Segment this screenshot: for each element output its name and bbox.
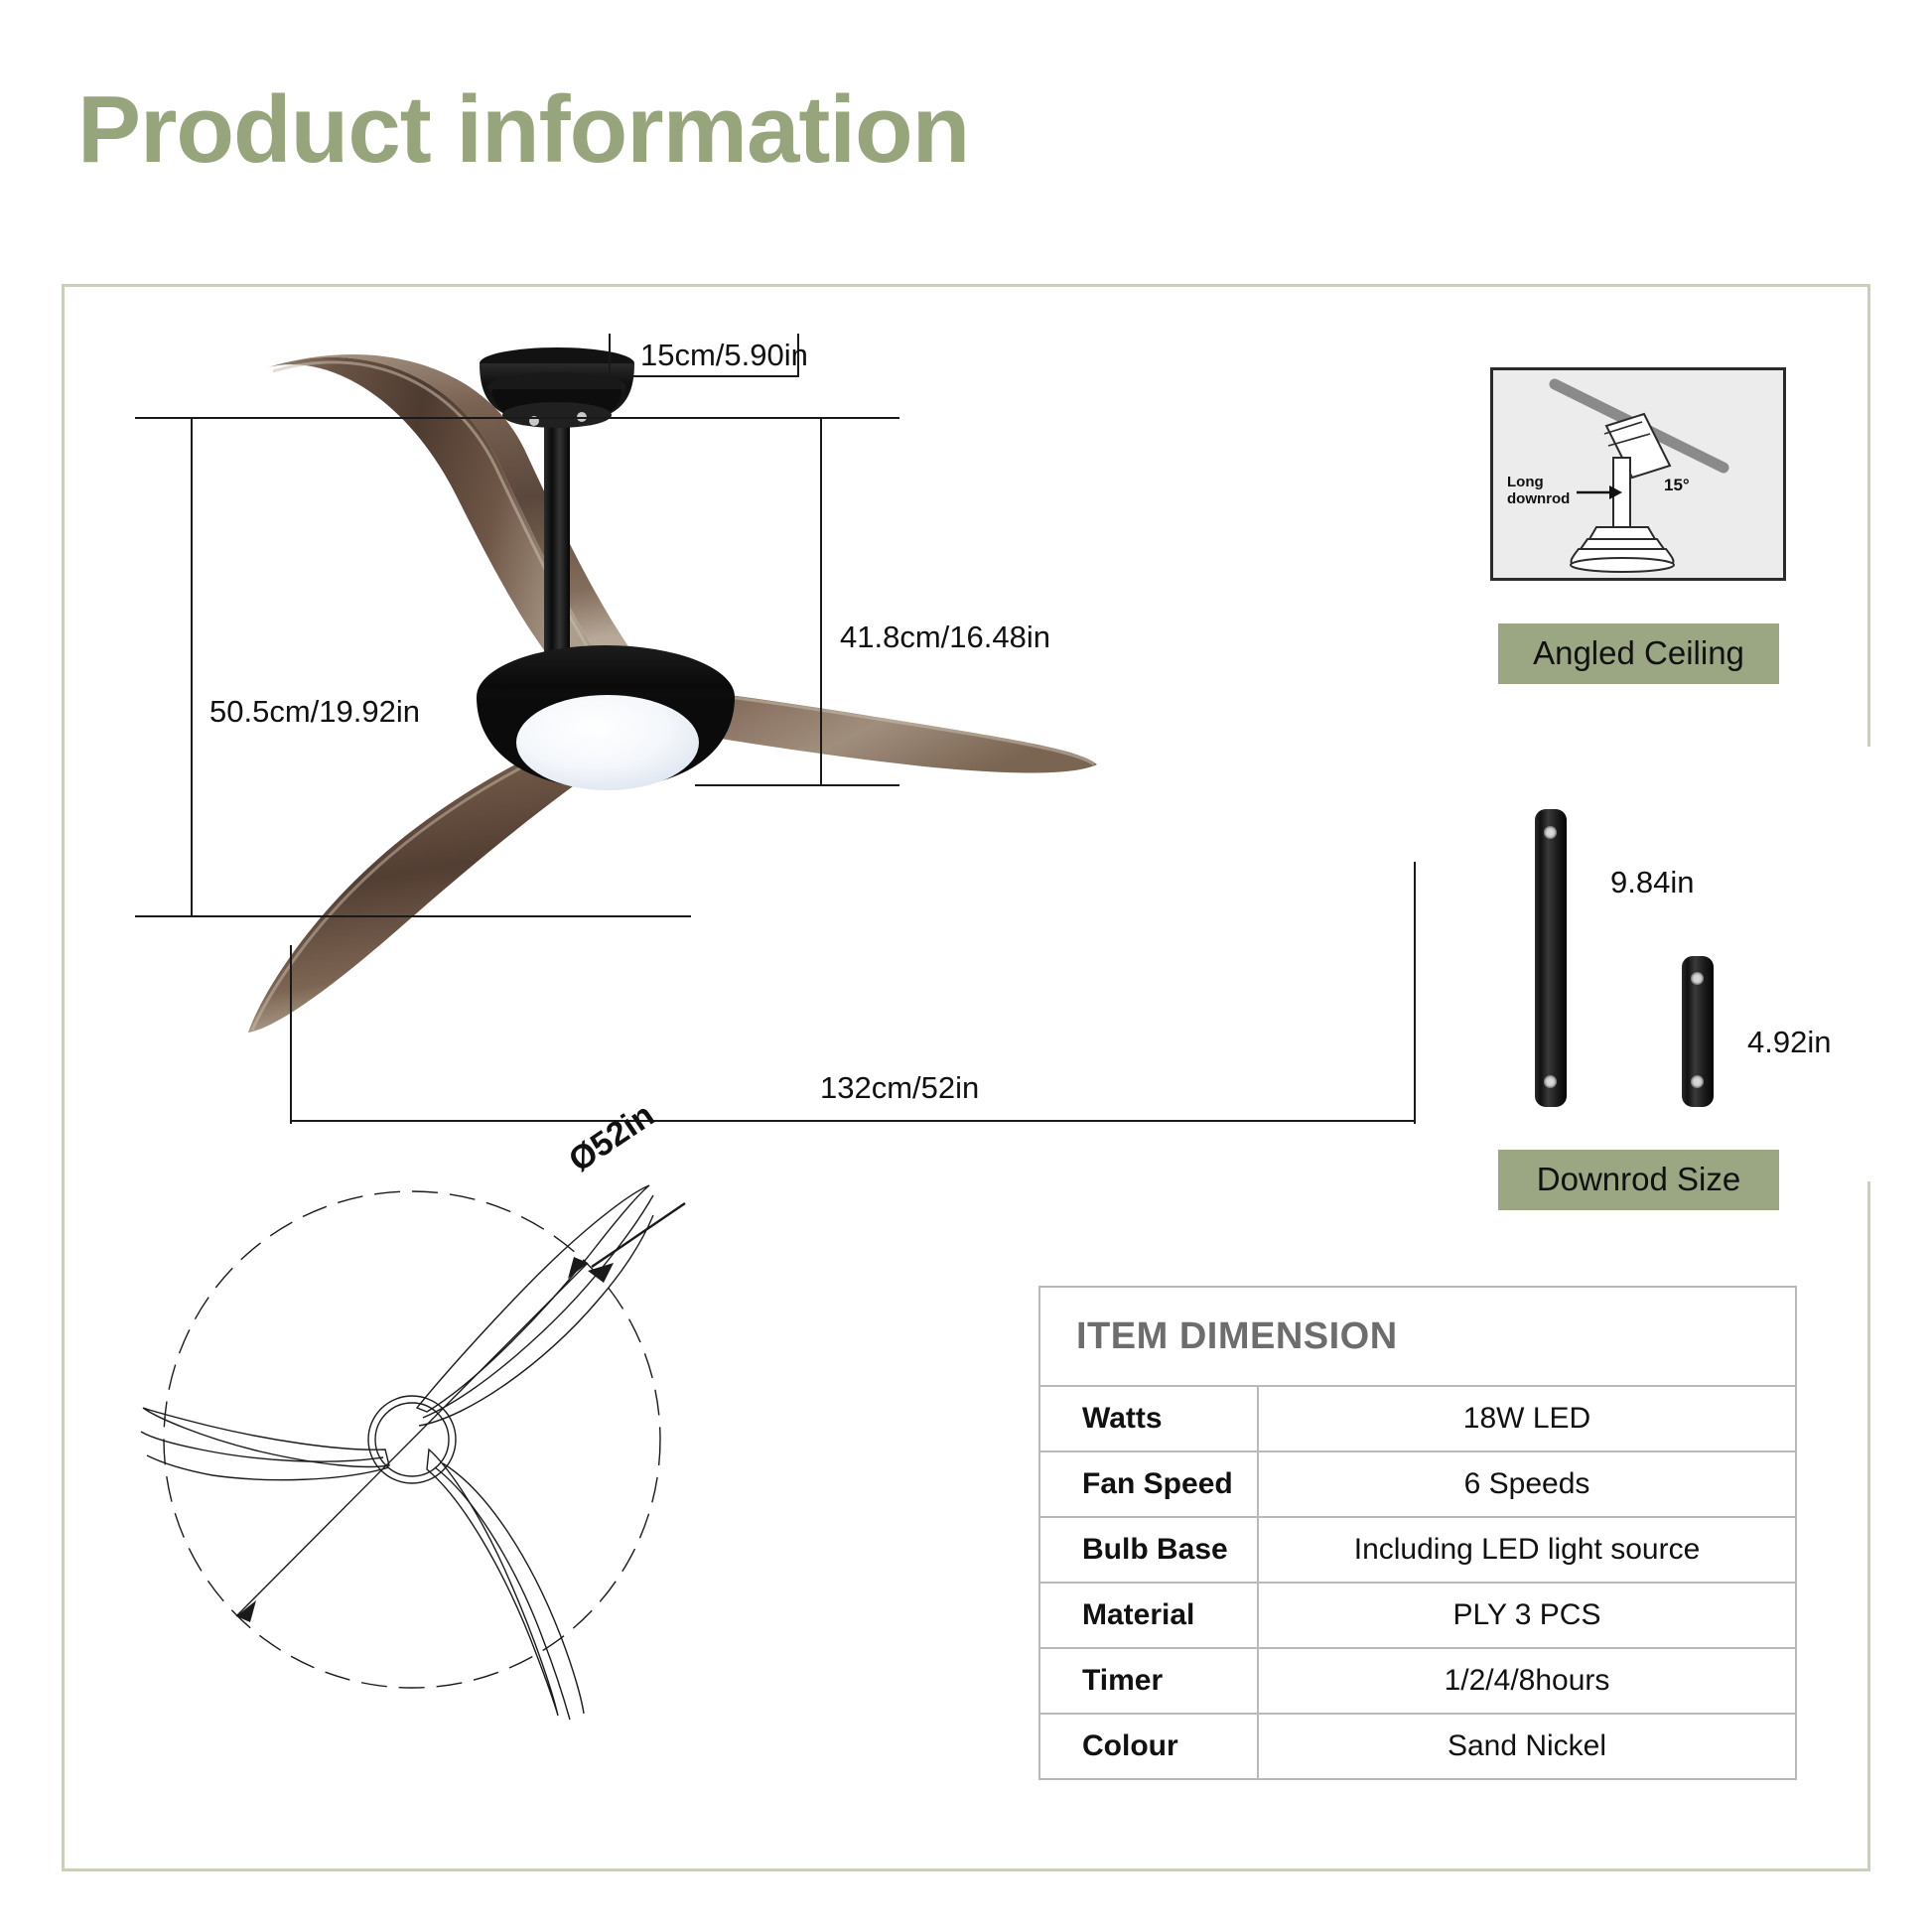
frame-border-right-lower	[1867, 1181, 1870, 1868]
table-row: Fan Speed 6 Speeds	[1039, 1451, 1796, 1517]
total-height-dim-line	[191, 417, 193, 915]
long-downrod-top-hole	[1544, 826, 1557, 839]
row-label-bulb-base: Bulb Base	[1039, 1517, 1258, 1583]
span-left-tick	[290, 945, 292, 1124]
row-label-colour: Colour	[1039, 1714, 1258, 1779]
blade-sweep-diagram: Ø52in	[129, 1152, 844, 1767]
short-downrod-top-hole	[1691, 972, 1704, 985]
table-row: Colour Sand Nickel	[1039, 1714, 1796, 1779]
drop-dim-line	[820, 417, 822, 784]
item-dimension-table: ITEM DIMENSION Watts 18W LED Fan Speed 6…	[1038, 1286, 1797, 1780]
item-dimension-header: ITEM DIMENSION	[1039, 1287, 1796, 1386]
frame-border-bottom	[62, 1868, 1870, 1871]
drop-top-extension	[695, 417, 899, 419]
short-downrod-image	[1682, 956, 1714, 1107]
hanging-drop-label: 41.8cm/16.48in	[834, 616, 1056, 659]
canopy-dim-left-tick	[609, 334, 611, 377]
table-header-row: ITEM DIMENSION	[1039, 1287, 1796, 1386]
row-label-material: Material	[1039, 1583, 1258, 1648]
total-height-label: 50.5cm/19.92in	[204, 690, 426, 734]
row-value-colour: Sand Nickel	[1258, 1714, 1796, 1779]
angled-ceiling-illustration: Long downrod 15°	[1490, 367, 1786, 581]
product-information-page: Product information	[0, 0, 1932, 1932]
long-downrod-label-line2: downrod	[1507, 490, 1570, 507]
long-downrod-length-label: 9.84in	[1610, 865, 1694, 900]
row-value-fan-speed: 6 Speeds	[1258, 1451, 1796, 1517]
row-value-material: PLY 3 PCS	[1258, 1583, 1796, 1648]
drop-bottom-extension	[695, 784, 899, 786]
frame-border-left	[62, 284, 65, 1868]
row-value-bulb-base: Including LED light source	[1258, 1517, 1796, 1583]
height-bottom-extension	[135, 915, 691, 917]
table-row: Material PLY 3 PCS	[1039, 1583, 1796, 1648]
row-value-watts: 18W LED	[1258, 1386, 1796, 1451]
frame-border-right-upper	[1867, 284, 1870, 747]
canopy-width-label: 15cm/5.90in	[640, 338, 808, 373]
page-title: Product information	[77, 77, 969, 183]
span-right-tick	[1414, 862, 1416, 1124]
downrod-size-badge: Downrod Size	[1498, 1150, 1779, 1210]
blade-span-label: 132cm/52in	[820, 1070, 979, 1106]
table-row: Timer 1/2/4/8hours	[1039, 1648, 1796, 1714]
frame-border-top	[62, 284, 1870, 287]
row-value-timer: 1/2/4/8hours	[1258, 1648, 1796, 1714]
short-downrod-bottom-hole	[1691, 1075, 1704, 1088]
long-downrod-image	[1535, 809, 1567, 1107]
long-downrod-label: Long downrod	[1507, 474, 1570, 508]
long-downrod-label-line1: Long	[1507, 474, 1544, 490]
angled-ceiling-badge: Angled Ceiling	[1498, 623, 1779, 684]
long-downrod-bottom-hole	[1544, 1075, 1557, 1088]
canopy-dim-line	[609, 375, 799, 377]
ceiling-angle-label: 15°	[1664, 476, 1690, 495]
row-label-watts: Watts	[1039, 1386, 1258, 1451]
row-label-timer: Timer	[1039, 1648, 1258, 1714]
span-dim-line	[290, 1120, 1416, 1122]
row-label-fan-speed: Fan Speed	[1039, 1451, 1258, 1517]
short-downrod-length-label: 4.92in	[1747, 1025, 1831, 1060]
table-row: Bulb Base Including LED light source	[1039, 1517, 1796, 1583]
table-row: Watts 18W LED	[1039, 1386, 1796, 1451]
